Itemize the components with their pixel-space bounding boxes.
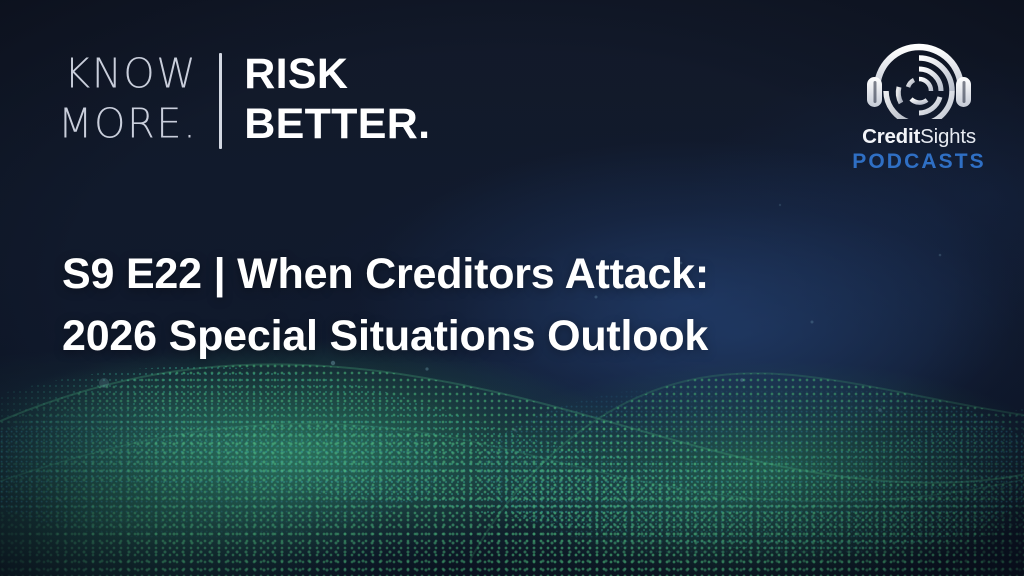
- logo-brand-sights: Sights: [920, 125, 976, 148]
- tagline-line-know: KNOW: [64, 49, 197, 100]
- podcast-cover-canvas: KNOW MORE. RISK BETTER. S9 E22 | When Cr…: [0, 0, 1024, 576]
- tagline-line-risk: RISK: [244, 49, 430, 99]
- headphones-soundwave-icon: [861, 33, 977, 119]
- brand-tagline: KNOW MORE. RISK BETTER.: [58, 47, 430, 151]
- episode-title-line-1: S9 E22 | When Creditors Attack:: [62, 243, 782, 305]
- tagline-know-more: KNOW MORE.: [58, 47, 219, 151]
- episode-title-line-2: 2026 Special Situations Outlook: [62, 305, 782, 367]
- tagline-risk-better: RISK BETTER.: [222, 47, 430, 151]
- tagline-line-better: BETTER.: [244, 99, 430, 149]
- logo-brand-name: CreditSights: [862, 125, 976, 148]
- episode-title: S9 E22 | When Creditors Attack: 2026 Spe…: [62, 243, 782, 367]
- logo-subtitle-podcasts: PODCASTS: [852, 150, 985, 174]
- logo-brand-credit: Credit: [862, 125, 920, 148]
- creditsights-podcasts-logo: CreditSights PODCASTS: [854, 33, 984, 174]
- tagline-line-more: MORE.: [58, 99, 197, 150]
